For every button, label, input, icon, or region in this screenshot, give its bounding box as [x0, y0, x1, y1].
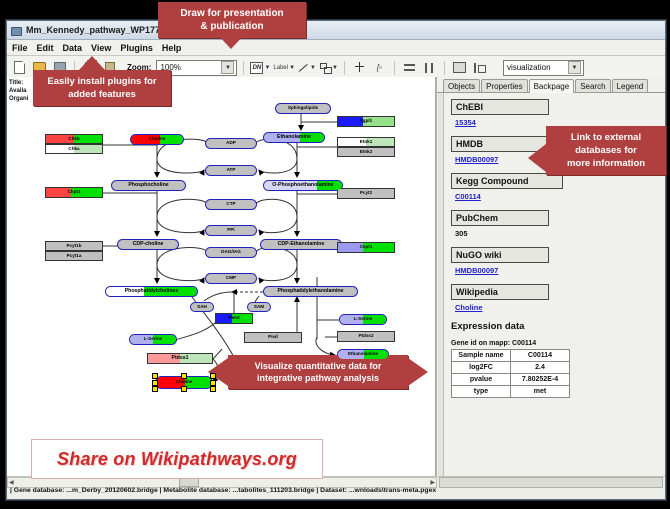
- callout-visualize-arrow-right: [408, 358, 428, 386]
- db-header-nugo: NuGO wiki: [451, 247, 549, 263]
- align-center-button[interactable]: [351, 59, 368, 76]
- stack-left-button[interactable]: [471, 59, 488, 76]
- menu-bar: File Edit Data View Plugins Help: [7, 40, 665, 56]
- expression-table: Sample name C00114 log2FC 2.4 pvalue 7.8…: [451, 349, 570, 398]
- tab-legend[interactable]: Legend: [612, 79, 649, 92]
- node-label: Pcyt1a: [67, 254, 82, 259]
- node-label: Pcyt1b: [66, 244, 81, 249]
- panel-divider[interactable]: [438, 93, 444, 477]
- reaction-icon: [319, 62, 331, 73]
- share-banner-text: Share on Wikipathways.org: [57, 449, 297, 470]
- app-icon: [11, 25, 22, 36]
- node-label: Phosphatidylcholines: [125, 289, 179, 294]
- table-row: type met: [452, 386, 570, 398]
- callout-visualize-line1: Visualize quantitative data for: [228, 360, 408, 372]
- metabolite-node-l-serine[interactable]: L-Serine: [339, 314, 387, 325]
- callout-links-line2: databases for: [546, 144, 666, 157]
- toolbar-separator-4: [394, 61, 395, 75]
- metabolite-node-phosphatidylcholines[interactable]: Phosphatidylcholines: [105, 286, 198, 297]
- metabolite-node-cdp-choline[interactable]: CDP-choline: [117, 239, 179, 250]
- db-header-chebi: ChEBI: [451, 99, 549, 115]
- tab-properties[interactable]: Properties: [481, 79, 527, 92]
- cell-key: type: [452, 386, 511, 398]
- sidebar-scrollbar[interactable]: [439, 477, 663, 488]
- callout-plugins-arrow: [79, 56, 105, 70]
- metabolite-node-sah[interactable]: SAH: [190, 302, 214, 312]
- callout-draw: Draw for presentation & publication: [158, 2, 306, 38]
- node-label: Sgpl1: [360, 119, 373, 124]
- node-label: DAG/IAG: [221, 250, 241, 255]
- cell-key: log2FC: [452, 362, 511, 374]
- chevron-down-icon[interactable]: ▼: [568, 61, 581, 74]
- metabolite-node-cmp[interactable]: CMP: [205, 273, 257, 284]
- gene-node-pisd[interactable]: Pisd: [244, 332, 302, 343]
- visualization-value: visualization: [507, 63, 551, 72]
- gene-node-etnk1[interactable]: Etnk1: [337, 137, 395, 147]
- node-label: Chka: [68, 147, 79, 152]
- resize-handle[interactable]: [152, 380, 158, 386]
- status-text: | Gene database: ...m_Derby_20120602.bri…: [10, 487, 436, 494]
- reaction-tool[interactable]: ▼: [319, 62, 338, 73]
- expression-data-title: Expression data: [451, 321, 663, 332]
- chevron-down-icon[interactable]: ▼: [310, 65, 316, 71]
- title-bar: Mm_Kennedy_pathway_WP1771_45176.gpml: [7, 21, 665, 40]
- menu-item-data[interactable]: Data: [63, 43, 83, 53]
- callout-plugins-line1: Easily install plugins for: [33, 75, 171, 88]
- gene-node-etnk2[interactable]: Etnk2: [337, 147, 395, 157]
- distribute-rows-button[interactable]: [401, 59, 418, 76]
- menu-item-plugins[interactable]: Plugins: [120, 43, 153, 53]
- metabolite-node-phosphocholine[interactable]: Phosphocholine: [111, 180, 186, 191]
- cell-key: Sample name: [452, 350, 511, 362]
- resize-handle[interactable]: [210, 380, 216, 386]
- chevron-down-icon[interactable]: ▼: [289, 65, 295, 71]
- callout-links-arrow: [528, 144, 546, 172]
- new-file-icon: [14, 61, 25, 74]
- scroll-left-icon[interactable]: ◀: [8, 479, 15, 486]
- db-link-nugo[interactable]: HMDB00097: [455, 266, 663, 275]
- resize-handle[interactable]: [181, 373, 187, 379]
- gene-node-pcyt2[interactable]: Pcyt2: [337, 188, 395, 199]
- tab-search[interactable]: Search: [575, 79, 610, 92]
- distribute-cols-button[interactable]: [421, 59, 438, 76]
- chevron-down-icon[interactable]: ▼: [264, 65, 270, 71]
- callout-plugins-line2: added features: [33, 88, 171, 101]
- screenshot-root: Mm_Kennedy_pathway_WP1771_45176.gpml Fil…: [0, 0, 670, 509]
- node-label: CDP-Ethanolamine: [278, 242, 325, 247]
- callout-draw-line2: & publication: [158, 20, 306, 33]
- callout-links-line1: Link to external: [546, 131, 666, 144]
- gene-id-label: Gene id on mapp: C00114: [451, 340, 663, 347]
- metabolite-node-adp[interactable]: ADP: [205, 138, 257, 149]
- size-equal-button[interactable]: [451, 59, 468, 76]
- callout-links-line3: more information: [546, 157, 666, 170]
- gene-node-cept1[interactable]: Cept1: [337, 242, 395, 253]
- status-bar: ◀ ▶ | Gene database: ...m_Derby_20120602…: [7, 476, 665, 499]
- share-banner: Share on Wikipathways.org: [31, 439, 323, 479]
- db-value-pubchem: 305: [455, 229, 663, 238]
- toolbar-separator-5: [444, 61, 445, 75]
- menu-item-view[interactable]: View: [91, 43, 111, 53]
- db-link-kegg[interactable]: C00114: [455, 192, 663, 201]
- metabolite-node-atp[interactable]: ATP: [205, 165, 257, 176]
- node-label: Chpt1: [67, 190, 80, 195]
- label-tool[interactable]: Label▼: [273, 65, 295, 71]
- node-label: Ethanolamine: [277, 135, 311, 140]
- side-panel-tabs: Objects Properties Backpage Search Legen…: [437, 77, 665, 93]
- node-label: Ptdss1: [171, 356, 188, 361]
- cell-key: pvalue: [452, 374, 511, 386]
- gene-node-chpt1[interactable]: Chpt1: [45, 187, 103, 198]
- metabolite-node-sam[interactable]: SAM: [247, 302, 271, 312]
- metabolite-node-ethanolamine[interactable]: Ethanolamine: [263, 132, 325, 143]
- metabolite-node-ethanolamine[interactable]: Ethanolamine: [337, 349, 389, 360]
- gene-node-sgpl1[interactable]: Sgpl1: [337, 116, 395, 127]
- line-icon: [298, 63, 309, 73]
- menu-item-edit[interactable]: Edit: [37, 43, 54, 53]
- node-label: PPi: [227, 228, 234, 233]
- cell-val: 7.80252E-4: [511, 374, 570, 386]
- node-label: Pcyt2: [360, 191, 372, 196]
- node-label: O-Phosphoethanolamine: [272, 183, 333, 188]
- node-label: Phosphatidylethanolamine: [277, 289, 343, 294]
- metabolite-node-l-serine[interactable]: L-Serine: [129, 334, 177, 345]
- node-label: Phosphocholine: [128, 183, 168, 188]
- node-label: Chkb: [68, 137, 79, 142]
- node-label: ADP: [226, 141, 236, 146]
- node-label: Ethanolamine: [348, 352, 378, 357]
- callout-visualize: Visualize quantitative data for integrat…: [228, 355, 408, 389]
- node-label: CTP: [226, 202, 235, 207]
- metabolite-node-sphingolipids[interactable]: Sphingolipids: [275, 103, 331, 114]
- node-label: SAM: [254, 305, 264, 310]
- node-label: Pisd: [268, 335, 278, 340]
- metabolite-node-ctp[interactable]: CTP: [205, 199, 257, 210]
- gene-node-chkb[interactable]: Chkb: [45, 134, 103, 144]
- toolbar-separator-3: [344, 61, 345, 75]
- metabolite-node-ppi[interactable]: PPi: [205, 225, 257, 236]
- chevron-down-icon[interactable]: ▼: [221, 61, 234, 74]
- metabolite-node-phosphatidylethanolamine[interactable]: Phosphatidylethanolamine: [263, 286, 358, 297]
- datanode-tool[interactable]: DN▼: [250, 62, 270, 74]
- new-file-button[interactable]: [11, 59, 28, 76]
- gene-node-ptdss1[interactable]: Ptdss1: [147, 353, 213, 364]
- callout-visualize-line2: integrative pathway analysis: [228, 372, 408, 384]
- callout-plugins: Easily install plugins for added feature…: [33, 70, 171, 106]
- db-header-wikipedia: Wikipedia: [451, 284, 549, 300]
- gene-node-chka[interactable]: Chka: [45, 144, 103, 154]
- pathway-canvas[interactable]: Title: Availa Organi: [7, 77, 436, 477]
- node-label: SAH: [197, 305, 207, 310]
- gene-node-pcyt1a[interactable]: Pcyt1a: [45, 251, 103, 261]
- db-header-kegg: Kegg Compound: [451, 173, 563, 189]
- metabolite-node-dag-iag[interactable]: DAG/IAG: [205, 247, 257, 258]
- node-label: Ptdss2: [358, 334, 373, 339]
- table-row: pvalue 7.80252E-4: [452, 374, 570, 386]
- gene-node-pcyt1b[interactable]: Pcyt1b: [45, 241, 103, 251]
- node-label: CMP: [226, 276, 236, 281]
- resize-handle[interactable]: [152, 386, 158, 392]
- metabolite-node-choline[interactable]: Choline: [130, 134, 184, 145]
- table-row: Sample name C00114: [452, 350, 570, 362]
- node-label: Cept1: [360, 245, 373, 250]
- tab-objects[interactable]: Objects: [443, 79, 480, 92]
- node-label: ATP: [227, 168, 236, 173]
- gene-node-ptdss2[interactable]: Ptdss2: [337, 331, 395, 342]
- resize-handle[interactable]: [152, 373, 158, 379]
- gene-node-pemt[interactable]: Pemt: [215, 313, 253, 324]
- align-left-button[interactable]: [▫: [371, 59, 388, 76]
- distribute-columns-icon: [424, 63, 435, 73]
- callout-draw-arrow: [218, 35, 244, 49]
- distribute-rows-icon: [404, 63, 415, 73]
- node-label: Pemt: [228, 316, 239, 321]
- resize-handle[interactable]: [210, 373, 216, 379]
- node-label: CDP-choline: [133, 242, 164, 247]
- callout-links: Link to external databases for more info…: [546, 126, 666, 175]
- toolbar-separator-2: [243, 61, 244, 75]
- label-tool-text: Label: [273, 65, 288, 71]
- align-left-icon: [▫: [374, 62, 385, 73]
- node-label: Etnk2: [360, 150, 373, 155]
- scrollbar-thumb[interactable]: [179, 478, 199, 487]
- node-label: Sphingolipids: [288, 106, 318, 111]
- node-label: L-Serine: [144, 337, 162, 342]
- resize-handle[interactable]: [181, 386, 187, 392]
- metabolite-node-cdp-ethanolamine[interactable]: CDP-Ethanolamine: [260, 239, 342, 250]
- metabolite-node-o-phosphoethanolamine[interactable]: O-Phosphoethanolamine: [263, 180, 343, 191]
- db-link-wikipedia[interactable]: Choline: [455, 303, 663, 312]
- chevron-down-icon[interactable]: ▼: [332, 65, 338, 71]
- db-header-pubchem: PubChem: [451, 210, 549, 226]
- stack-left-icon: [474, 63, 485, 73]
- table-row: log2FC 2.4: [452, 362, 570, 374]
- cell-val: C00114: [511, 350, 570, 362]
- equal-size-icon: [453, 62, 466, 73]
- align-center-icon: [354, 62, 365, 73]
- scroll-right-icon[interactable]: ▶: [429, 479, 436, 486]
- visualization-combo[interactable]: visualization ▼: [503, 60, 584, 76]
- resize-handle[interactable]: [210, 386, 216, 392]
- node-label: Choline: [176, 380, 193, 385]
- node-label: Etnk1: [360, 140, 373, 145]
- menu-item-file[interactable]: File: [12, 43, 28, 53]
- node-label: Choline: [149, 137, 166, 142]
- menu-item-help[interactable]: Help: [162, 43, 182, 53]
- datanode-icon: DN: [250, 62, 263, 74]
- cell-val: met: [511, 386, 570, 398]
- node-label: L-Serine: [354, 317, 372, 322]
- line-tool[interactable]: ▼: [298, 63, 316, 73]
- callout-draw-line1: Draw for presentation: [158, 7, 306, 20]
- tab-backpage[interactable]: Backpage: [529, 79, 575, 93]
- cell-val: 2.4: [511, 362, 570, 374]
